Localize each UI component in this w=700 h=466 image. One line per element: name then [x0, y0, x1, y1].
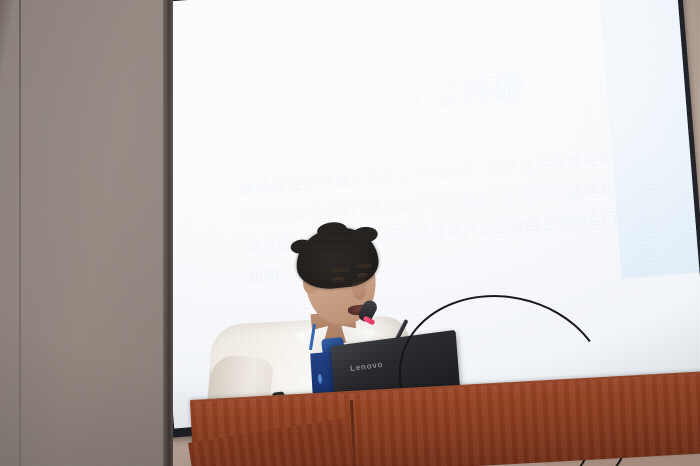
left-wall-seam [19, 0, 21, 466]
left-wall-edge [163, 0, 173, 466]
slide-body-text: 食品安全研究室是苏微公司在食品、农产品中有毒有害 物质监测领域专门设立的科研攻关… [240, 141, 668, 294]
slide-body-keyword: 食品安全研究室 [241, 172, 351, 198]
left-wall-panel [0, 0, 172, 466]
slide-title: 食品安全研究室科研 [235, 62, 526, 130]
presentation-photo: 食品安全研究室科研 食品安全研究室是苏微公司在食品、农产品中有毒有害 物质监测领… [0, 0, 700, 466]
